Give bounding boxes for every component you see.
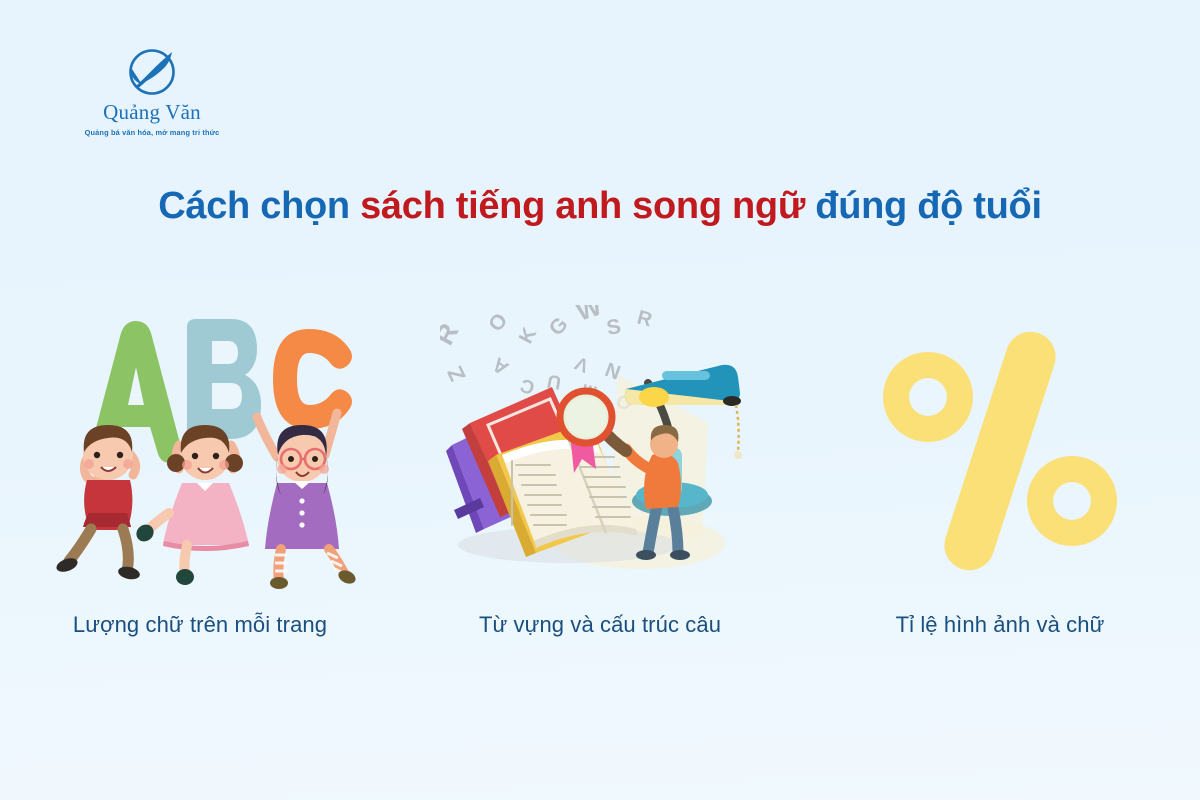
svg-text:W: W xyxy=(573,305,606,327)
feature-column-1: Lượng chữ trên mỗi trang xyxy=(0,300,400,638)
percent-symbol-shape xyxy=(883,325,1117,576)
feature-caption-3: Tỉ lệ hình ảnh và chữ xyxy=(896,612,1105,638)
brand-tagline: Quảng bá văn hóa, mở mang tri thức xyxy=(72,128,232,137)
feature-column-3: Tỉ lệ hình ảnh và chữ xyxy=(800,300,1200,638)
feature-column-2: R Z O A K C G U W V M S N R O B X xyxy=(400,300,800,638)
feature-columns: Lượng chữ trên mỗi trang R Z O A K C G U… xyxy=(0,300,1200,680)
svg-text:O: O xyxy=(484,309,512,336)
svg-text:G: G xyxy=(545,313,573,341)
child-red xyxy=(55,425,141,581)
title-part-2: sách tiếng anh song ngữ xyxy=(360,185,805,227)
title-part-1: Cách chọn xyxy=(158,185,360,227)
svg-text:S: S xyxy=(605,315,623,340)
quangvan-bird-circle-logo xyxy=(72,44,232,102)
illustration-percent xyxy=(870,300,1130,590)
svg-text:K: K xyxy=(515,324,541,348)
illustration-books-magnifier: R Z O A K C G U W V M S N R O B X xyxy=(440,300,760,590)
letter-b-shape xyxy=(187,319,261,439)
svg-text:R: R xyxy=(635,307,655,332)
brand-logo: Quảng Văn Quảng bá văn hóa, mở mang tri … xyxy=(72,44,232,137)
title-part-3: đúng độ tuổi xyxy=(805,185,1042,227)
child-pink xyxy=(133,425,249,585)
brand-name: Quảng Văn xyxy=(72,101,232,123)
page-title: Cách chọn sách tiếng anh song ngữ đúng đ… xyxy=(0,185,1200,228)
svg-text:Z: Z xyxy=(442,363,470,386)
svg-text:C: C xyxy=(517,374,537,399)
feature-caption-2: Từ vựng và cấu trúc câu xyxy=(479,612,721,638)
feature-caption-1: Lượng chữ trên mỗi trang xyxy=(73,612,327,638)
svg-text:V: V xyxy=(572,351,592,375)
illustration-abc-children xyxy=(35,300,365,590)
svg-text:R: R xyxy=(440,319,464,350)
child-purple xyxy=(257,413,358,589)
svg-text:A: A xyxy=(488,353,512,379)
